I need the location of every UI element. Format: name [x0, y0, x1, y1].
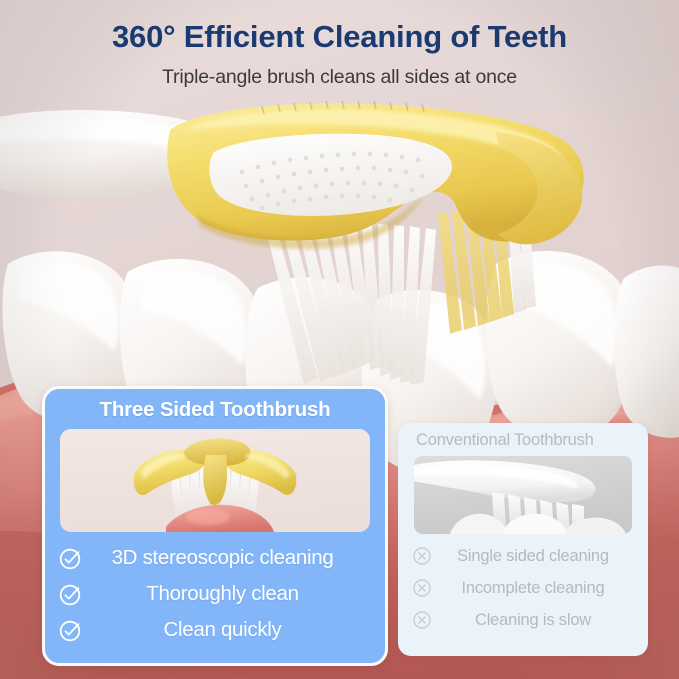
- comparison-panel-conventional: Conventional Toothbrush: [398, 423, 648, 656]
- list-item-label: Clean quickly: [90, 618, 385, 642]
- check-circle-icon: [57, 545, 84, 572]
- three-sided-brush-photo: [60, 429, 370, 532]
- header: 360° Efficient Cleaning of Teeth Triple-…: [0, 0, 679, 89]
- list-item-label: Single sided cleaning: [438, 547, 648, 566]
- list-item: Clean quickly: [45, 612, 385, 648]
- three-sided-benefit-list: 3D stereoscopic cleaning Thoroughly clea…: [45, 532, 385, 648]
- conventional-drawback-list: Single sided cleaning Incomplete cleanin…: [398, 534, 648, 636]
- circle-x-icon: [412, 578, 432, 598]
- conventional-panel-title: Conventional Toothbrush: [398, 423, 648, 450]
- list-item: Single sided cleaning: [398, 540, 648, 572]
- page-title: 360° Efficient Cleaning of Teeth: [0, 0, 679, 55]
- check-circle-icon: [57, 581, 84, 608]
- three-sided-panel-title: Three Sided Toothbrush: [45, 389, 385, 422]
- comparison-panel-three-sided: Three Sided Toothbrush: [42, 386, 388, 666]
- page-subtitle: Triple-angle brush cleans all sides at o…: [0, 55, 679, 89]
- list-item-label: Incomplete cleaning: [438, 579, 648, 598]
- list-item: Thoroughly clean: [45, 576, 385, 612]
- list-item-label: Cleaning is slow: [438, 611, 648, 630]
- conventional-brush-photo: [414, 456, 632, 534]
- list-item: 3D stereoscopic cleaning: [45, 540, 385, 576]
- list-item-label: Thoroughly clean: [90, 582, 385, 606]
- product-infographic: 360° Efficient Cleaning of Teeth Triple-…: [0, 0, 679, 679]
- check-circle-icon: [57, 617, 84, 644]
- circle-x-icon: [412, 546, 432, 566]
- circle-x-icon: [412, 610, 432, 630]
- list-item: Cleaning is slow: [398, 604, 648, 636]
- list-item-label: 3D stereoscopic cleaning: [90, 546, 385, 570]
- list-item: Incomplete cleaning: [398, 572, 648, 604]
